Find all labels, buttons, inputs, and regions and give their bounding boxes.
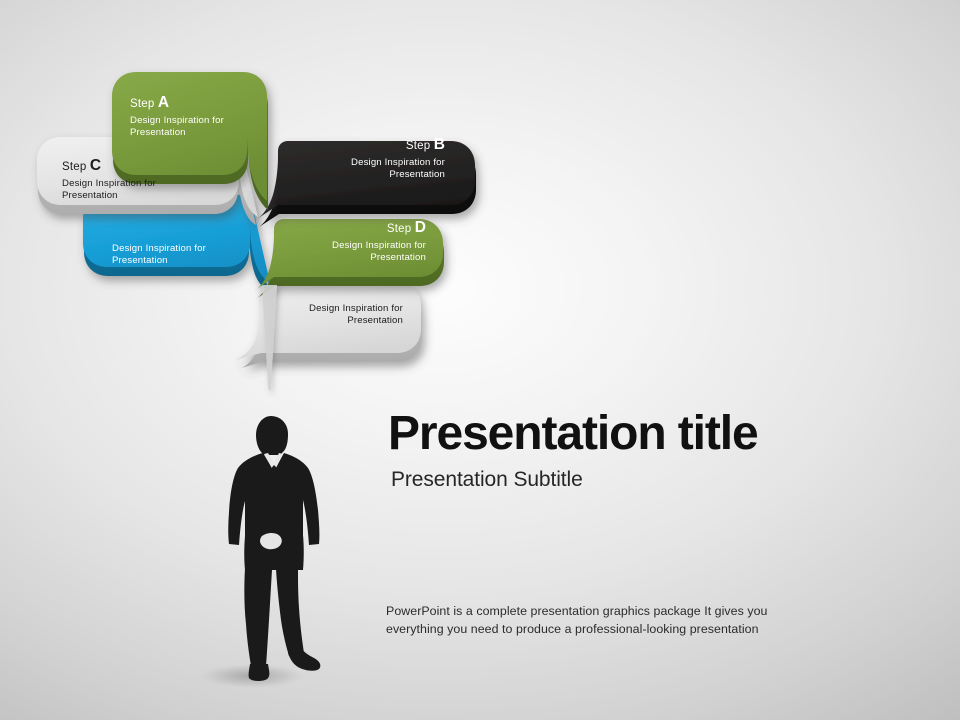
page-title: Presentation title — [388, 409, 928, 459]
figure-shoe-left — [249, 664, 270, 681]
title-block: Presentation title Presentation Subtitle — [388, 409, 928, 492]
step-bubble-cluster: Step A Design Inspiration for Presentati… — [0, 0, 520, 410]
body-copy-line-2: everything you need to produce a profess… — [386, 621, 786, 639]
figure-hands — [260, 533, 282, 549]
bubble-b-shape — [257, 141, 476, 227]
presentation-slide: Step A Design Inspiration for Presentati… — [0, 0, 960, 720]
figure-leg-right — [276, 569, 304, 656]
bubble-f-shape — [232, 282, 422, 369]
figure-head — [256, 416, 288, 455]
body-copy-line-1: PowerPoint is a complete presentation gr… — [386, 603, 786, 621]
body-copy: PowerPoint is a complete presentation gr… — [386, 603, 786, 638]
page-subtitle: Presentation Subtitle — [391, 468, 928, 492]
figure-shoe-right — [288, 649, 320, 671]
businessman-silhouette-icon — [222, 408, 342, 693]
figure-leg-left — [244, 568, 272, 666]
